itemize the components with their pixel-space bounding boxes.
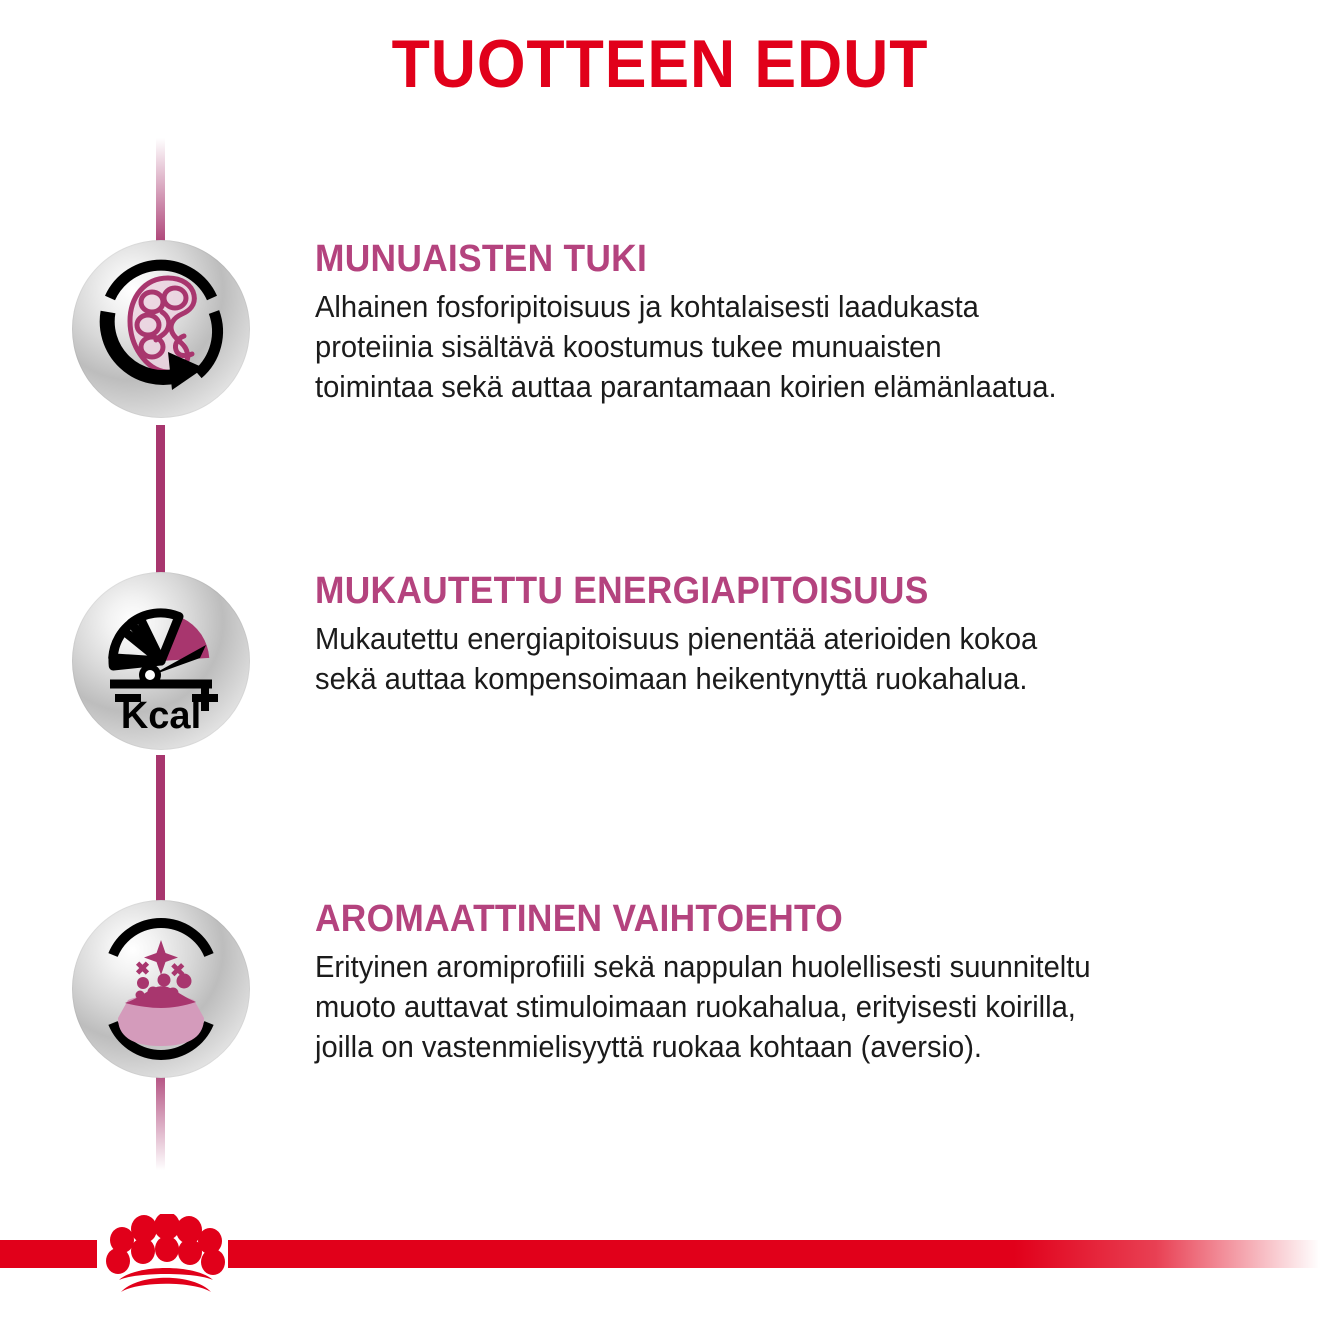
benefit-heading: MUKAUTETTU ENERGIAPITOISUUS	[315, 572, 1226, 612]
gauge-label-text: Kcal	[121, 695, 201, 737]
kcal-gauge-icon: Kcal	[72, 572, 250, 750]
benefit-heading: AROMAATTINEN VAIHTOEHTO	[315, 900, 1226, 940]
aroma-bowl-icon	[72, 900, 250, 1078]
benefit-heading: MUNUAISTEN TUKI	[315, 240, 1226, 280]
benefit-body: Alhainen fosforipitoisuus ja kohtalaises…	[315, 287, 1251, 408]
page-title: TUOTTEEN EDUT	[53, 30, 1267, 98]
benefit-text-energy: MUKAUTETTU ENERGIAPITOISUUS Mukautettu e…	[315, 572, 1295, 699]
benefit-text-aroma: AROMAATTINEN VAIHTOEHTO Erityinen aromip…	[315, 900, 1295, 1068]
kcal-gauge-icon-graphic: Kcal	[72, 572, 250, 750]
benefit-body: Erityinen aromiprofiili sekä nappulan hu…	[315, 947, 1251, 1068]
footer-bar-right	[228, 1240, 1320, 1268]
benefit-text-kidney: MUNUAISTEN TUKI Alhainen fosforipitoisuu…	[315, 240, 1295, 408]
kidney-icon-graphic	[72, 240, 250, 418]
royal-canin-crown-logo	[86, 1214, 238, 1300]
benefit-body: Mukautettu energiapitoisuus pienentää at…	[315, 619, 1251, 700]
footer-bar-left	[0, 1240, 97, 1268]
aroma-bowl-icon-graphic	[72, 900, 250, 1078]
kidney-icon	[72, 240, 250, 418]
product-benefits-page: TUOTTEEN EDUT	[0, 0, 1320, 1320]
footer	[0, 1232, 1320, 1320]
connector-line-bottom	[156, 1060, 165, 1180]
